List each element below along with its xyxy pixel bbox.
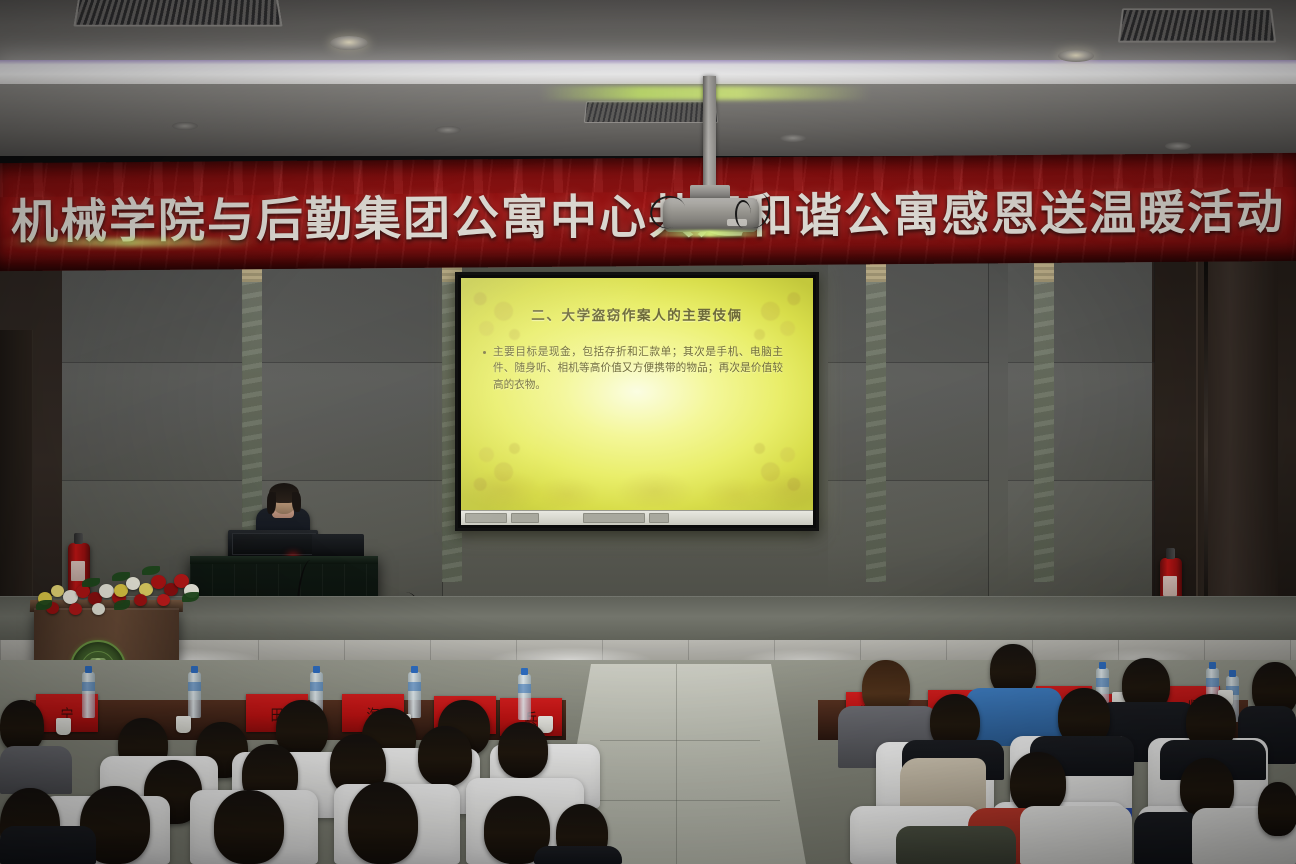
wall-panel [1008,362,1155,481]
auditorium-photo: 二、大学盗窃作案人的主要伎俩 主要目标是现金，包括存折和汇款单；其次是手机、电脑… [0,0,1296,864]
slide-bullet-item: 主要目标是现金，包括存折和汇款单；其次是手机、电脑主件、随身听、相机等高价值又方… [483,344,783,393]
audience-head [0,700,44,752]
taskbar-item [583,513,645,523]
audience-shoulders [0,826,96,864]
air-vent-icon [73,0,282,27]
wall-panel [1008,252,1155,363]
ceiling-downlight-icon [330,36,368,50]
paper-cup-icon [176,716,191,733]
air-vent-icon [1118,8,1276,42]
audience-head [498,722,548,778]
slide-body-text: 主要目标是现金，包括存折和汇款单；其次是手机、电脑主件、随身听、相机等高价值又方… [493,344,783,393]
presentation-taskbar [461,510,813,525]
audience-shoulders [896,826,1016,864]
air-vent-icon [584,101,718,123]
ceiling-downlight-icon [435,126,461,134]
wall-panel [828,252,989,363]
ceiling-downlight-icon [172,122,198,130]
water-bottle-icon [82,672,95,718]
wall-panel [262,362,443,481]
water-bottle-icon [408,672,421,718]
floor-tile-seam [600,740,760,741]
audience-head [418,726,472,786]
floor-tile-seam [676,664,677,864]
wall-decor-strip [866,252,886,582]
ceiling-downlight-icon [1058,50,1094,62]
audience-shoulders [534,846,622,864]
wall-panel [1008,480,1155,601]
paper-cup-icon [56,718,71,735]
audience-shoulders [1134,812,1200,864]
event-banner: 机械学院与后勤集团公寓中心共建和谐公寓感恩送温暖活动 [0,153,1296,271]
flower-icon [92,603,105,615]
wall-panel [62,362,243,481]
projector-cable [735,200,751,228]
audience-shoulders [1020,806,1132,864]
ceiling-downlight-icon [780,134,806,142]
flower-icon [51,585,64,597]
wall-panel [828,480,989,601]
water-bottle-icon [518,674,531,720]
slide-surface: 二、大学盗窃作案人的主要伎俩 主要目标是现金，包括存折和汇款单；其次是手机、电脑… [461,278,813,525]
ceiling-light-strip [0,60,1296,86]
flower-icon [157,594,170,606]
taskbar-item [511,513,539,523]
audience-head [1258,782,1296,836]
projector-light-glare [0,238,260,247]
flower-icon [69,603,82,615]
wall-panel [828,362,989,481]
banner-title: 机械学院与后勤集团公寓中心共建和谐公寓感恩送温暖活动 [0,153,1296,275]
taskbar-item [465,513,507,523]
leaf-icon [142,566,160,575]
flower-arrangement [112,566,200,610]
wall-decor-strip [1034,252,1054,582]
taskbar-item [649,513,669,523]
audience-shoulders [0,746,72,794]
audience-head [348,782,418,864]
floor-tile-seam [580,800,780,801]
speaker-hair [292,492,301,512]
audience-head [214,790,284,864]
projection-screen: 二、大学盗窃作案人的主要伎俩 主要目标是现金，包括存折和汇款单；其次是手机、电脑… [455,272,819,531]
slide-ornament-border [461,465,813,507]
projector-lens-glow [654,230,766,237]
audience-head [1010,752,1066,814]
side-door-left [0,330,33,610]
leaf-icon [182,592,199,602]
side-door-right [1196,260,1278,640]
slide-title: 二、大学盗窃作案人的主要伎俩 [461,304,813,324]
laptop-screen [232,533,316,555]
speaker-hair [267,492,276,514]
flower-icon [126,577,140,590]
bullet-dot-icon [483,351,486,354]
flower-icon [134,594,147,606]
leaf-icon [82,578,100,587]
projector-mount-pole [703,76,716,192]
water-bottle-icon [188,672,201,718]
ceiling-downlight-icon [1165,142,1191,150]
